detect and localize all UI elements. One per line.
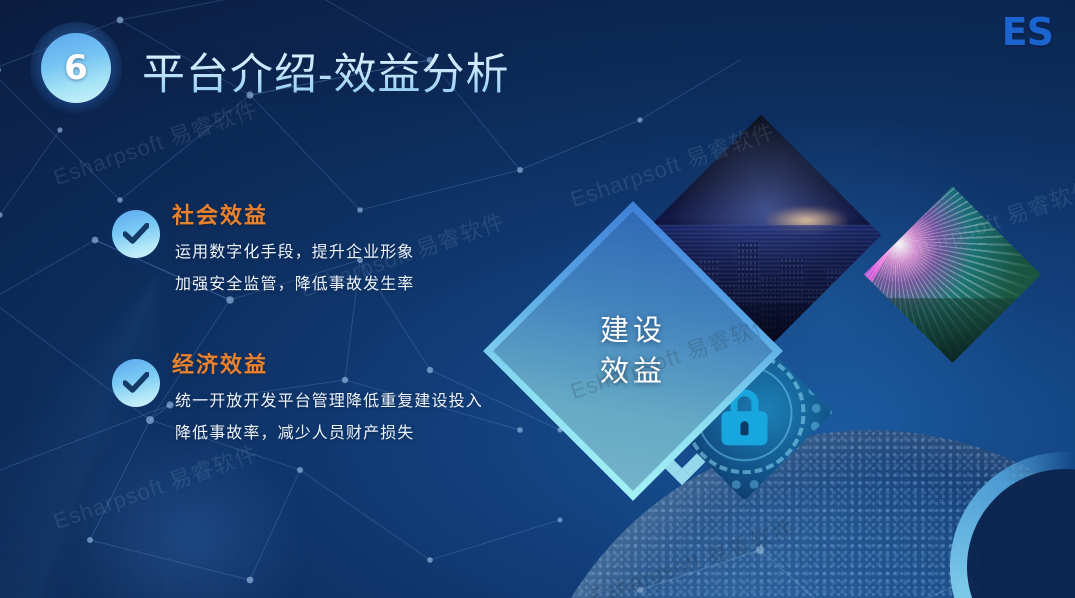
check-circle-icon xyxy=(112,359,160,407)
benefit-lines: 统一开放开发平台管理降低重复建设投入 降低事故率，减少人员财产损失 xyxy=(175,385,483,449)
check-mark-icon xyxy=(123,223,149,245)
light-show-ground xyxy=(864,298,1041,363)
watermark: Esharpsoft 易睿软件 xyxy=(586,511,799,598)
cyan-arc-ring xyxy=(950,452,1075,598)
page-title: 平台介绍-效益分析 xyxy=(142,40,510,102)
company-logo: ES xyxy=(1002,10,1053,54)
check-circle-icon xyxy=(112,210,160,258)
benefit-line: 加强安全监管，降低事故发生率 xyxy=(175,268,414,300)
slide-number: 6 xyxy=(64,48,88,88)
background-glow-left xyxy=(60,430,320,598)
check-mark-icon xyxy=(123,372,149,394)
benefit-line: 降低事故率，减少人员财产损失 xyxy=(175,417,483,449)
benefit-heading: 社会效益 xyxy=(172,198,268,230)
benefit-line: 运用数字化手段，提升企业形象 xyxy=(175,236,414,268)
benefit-line: 统一开放开发平台管理降低重复建设投入 xyxy=(175,385,483,417)
presentation-slide: 建设 效益 6 平台介绍-效益分析 ES 社会效益 运用数字化手段，提升企业形象… xyxy=(0,0,1075,598)
benefit-heading: 经济效益 xyxy=(172,347,268,379)
slide-number-badge: 6 xyxy=(30,22,122,114)
diamond-line-2: 效益 xyxy=(600,353,666,390)
colorful-light-show-photo xyxy=(864,186,1041,363)
diamond-line-1: 建设 xyxy=(600,312,666,349)
watermark: Esharpsoft 易睿软件 xyxy=(49,436,262,536)
benefit-lines: 运用数字化手段，提升企业形象 加强安全监管，降低事故发生率 xyxy=(175,236,414,300)
